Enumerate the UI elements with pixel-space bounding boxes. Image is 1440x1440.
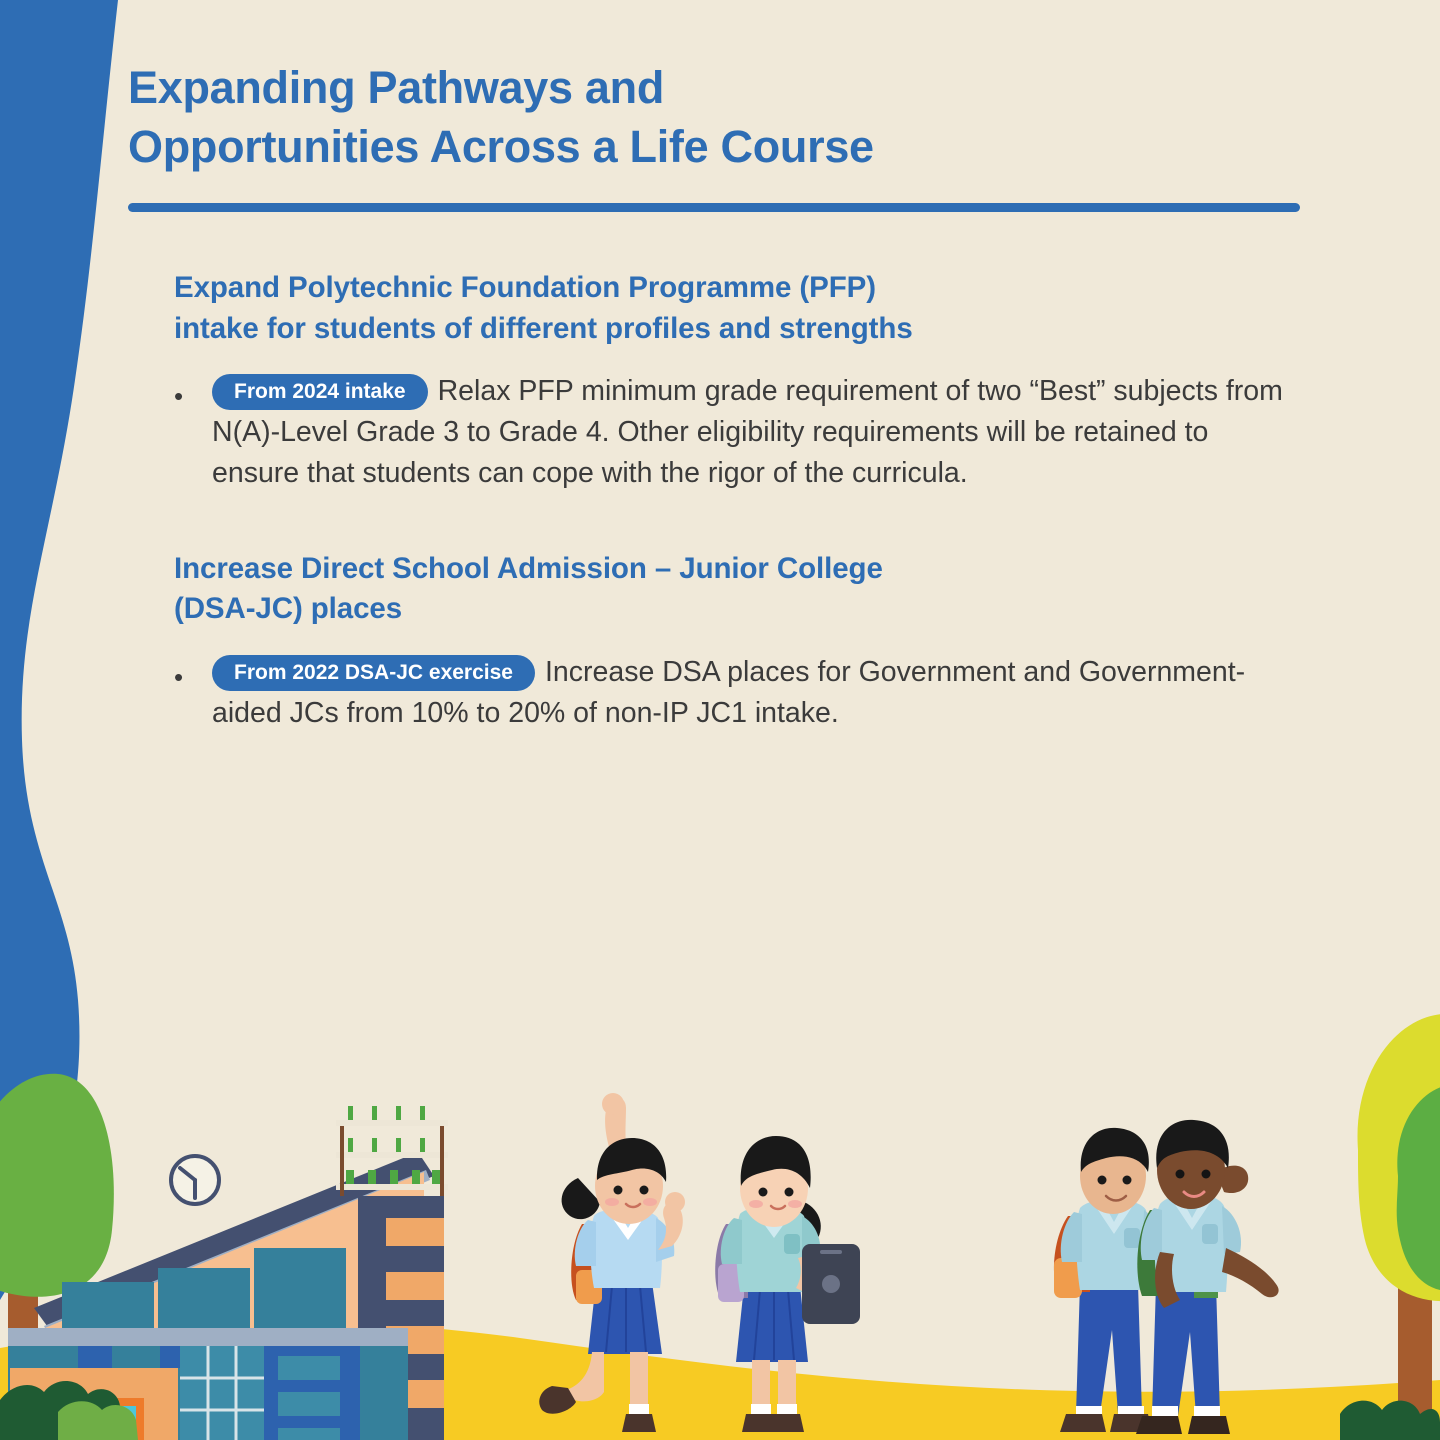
bullet-marker: • bbox=[174, 652, 212, 690]
infographic-page: Expanding Pathways and Opportunities Acr… bbox=[0, 0, 1440, 1440]
content-area: Expand Polytechnic Foundation Programme … bbox=[174, 268, 1284, 776]
section-pfp: Expand Polytechnic Foundation Programme … bbox=[174, 268, 1284, 495]
building-window bbox=[158, 1268, 250, 1328]
section-heading-dsa-jc: Increase Direct School Admission – Junio… bbox=[174, 549, 1284, 630]
bushes-right bbox=[1340, 1401, 1440, 1440]
student-boy-green-backpack bbox=[1136, 1120, 1279, 1434]
student-girl-tablet bbox=[715, 1136, 860, 1432]
timeline-badge-2024-intake: From 2024 intake bbox=[212, 374, 428, 410]
title-underline bbox=[128, 203, 1300, 212]
wall-clock bbox=[171, 1156, 219, 1204]
page-title: Expanding Pathways and Opportunities Acr… bbox=[128, 58, 1318, 177]
bullet-pfp: • From 2024 intakeRelax PFP minimum grad… bbox=[174, 371, 1284, 494]
building-window bbox=[254, 1248, 346, 1328]
bullet-text-dsa-jc: From 2022 DSA-JC exerciseIncrease DSA pl… bbox=[212, 652, 1284, 734]
section-heading-pfp: Expand Polytechnic Foundation Programme … bbox=[174, 268, 1284, 349]
tree-left bbox=[0, 1074, 114, 1440]
student-girl-waving bbox=[539, 1093, 685, 1432]
school-building bbox=[8, 1106, 448, 1440]
bullet-marker: • bbox=[174, 371, 212, 409]
section-dsa-jc: Increase Direct School Admission – Junio… bbox=[174, 549, 1284, 734]
bushes-left bbox=[0, 1381, 138, 1440]
header: Expanding Pathways and Opportunities Acr… bbox=[128, 58, 1318, 212]
student-boy-orange-backpack bbox=[1054, 1128, 1180, 1432]
rooftop-plant-rack bbox=[336, 1106, 448, 1196]
building-tower bbox=[358, 1196, 444, 1440]
yellow-ground bbox=[0, 1322, 1440, 1440]
tree-right bbox=[1358, 1014, 1440, 1440]
bullet-text-pfp: From 2024 intakeRelax PFP minimum grade … bbox=[212, 371, 1284, 494]
building-window bbox=[62, 1282, 154, 1328]
left-blue-wave-decoration bbox=[0, 0, 160, 1440]
campus-illustration bbox=[0, 1000, 1440, 1440]
timeline-badge-2022-dsa-jc-exercise: From 2022 DSA-JC exercise bbox=[212, 655, 535, 691]
tablet-device bbox=[802, 1244, 860, 1324]
bullet-dsa-jc: • From 2022 DSA-JC exerciseIncrease DSA … bbox=[174, 652, 1284, 734]
